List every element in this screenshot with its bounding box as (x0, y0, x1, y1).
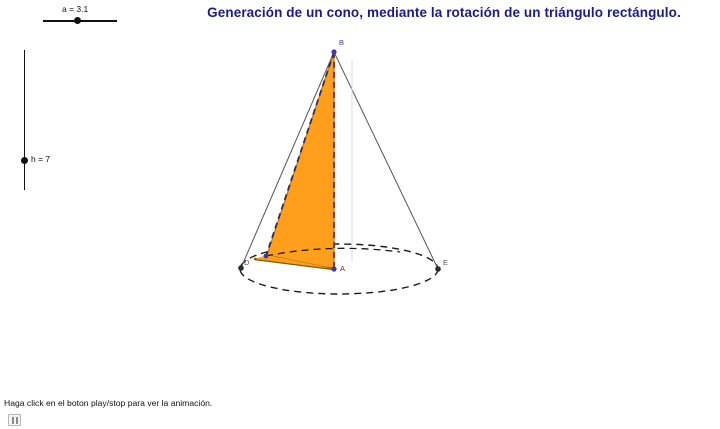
point-D[interactable] (238, 265, 244, 271)
pause-bar-left (12, 417, 14, 424)
point-B[interactable] (331, 49, 336, 54)
generatrix-right (334, 52, 438, 269)
point-label-D: D (244, 258, 250, 267)
point-A[interactable] (331, 266, 336, 271)
point-label-E: E (443, 258, 448, 267)
point-C[interactable] (264, 254, 269, 259)
play-stop-button[interactable] (8, 414, 21, 426)
point-label-B: B (339, 38, 344, 47)
pause-bar-right (16, 417, 18, 424)
cone-figure: B A D E (0, 0, 720, 390)
instruction-text: Haga click en el boton play/stop para ve… (4, 398, 212, 408)
geogebra-applet: Generación de un cono, mediante la rotac… (0, 0, 720, 429)
point-E[interactable] (435, 266, 441, 272)
point-label-A: A (340, 264, 345, 273)
